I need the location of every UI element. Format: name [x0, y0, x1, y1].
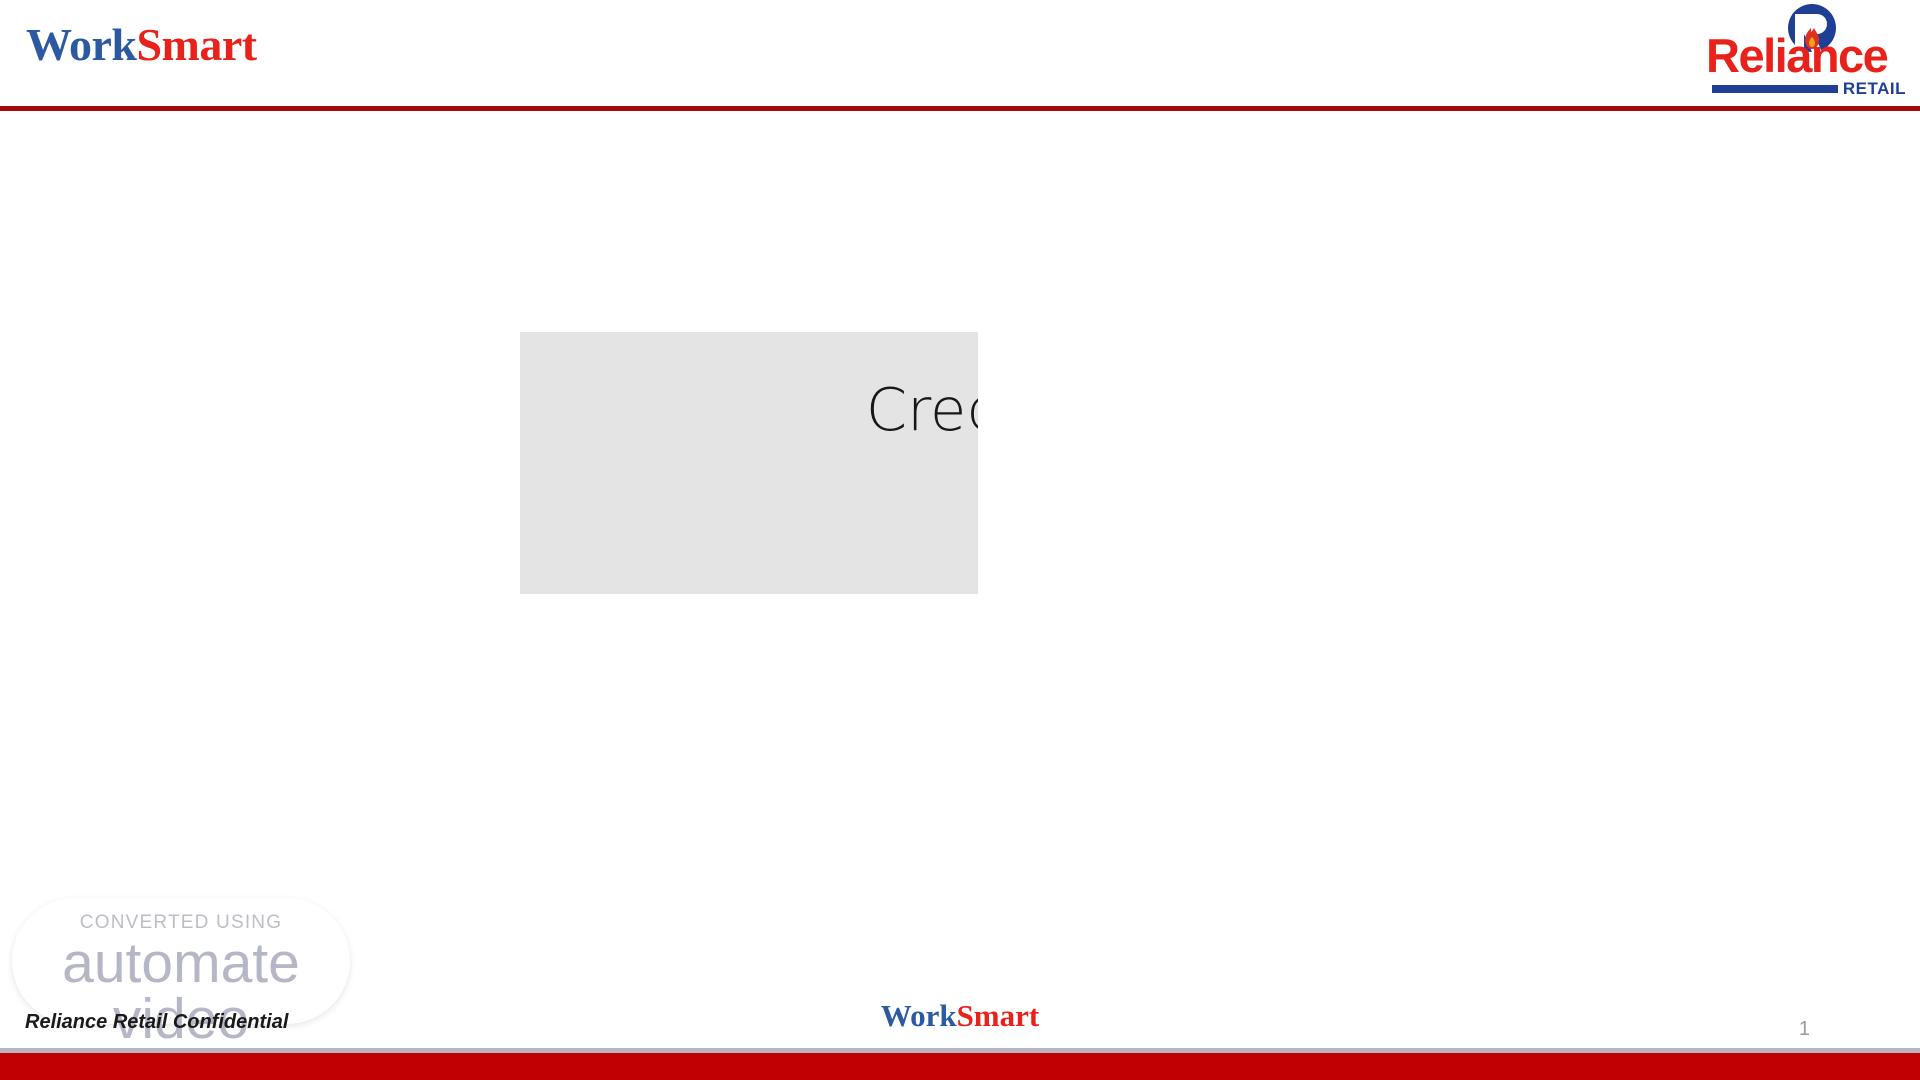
reliance-underline-group: RETAIL — [1712, 82, 1906, 98]
automate-video-watermark: CONVERTED USING automate video — [12, 898, 350, 1024]
slide-title-text: Credit Note – Grocery — [550, 372, 978, 523]
worksmart-logo-work-text: Work — [26, 19, 136, 70]
watermark-pill-background — [12, 898, 350, 1024]
worksmart-logo-header: WorkSmart — [26, 22, 257, 68]
footer-logo-smart-text: Smart — [957, 998, 1040, 1033]
slide-page-number: 1 — [1799, 1018, 1810, 1041]
reliance-underline-bar — [1712, 85, 1838, 93]
header-divider-rule — [0, 106, 1920, 111]
slide-title-line-2: Grocery — [550, 448, 978, 524]
footer-confidentiality-notice: Reliance Retail Confidential — [25, 1011, 288, 1034]
reliance-retail-subtitle: RETAIL — [1843, 80, 1906, 97]
slide-title-line-1: Credit Note – — [550, 372, 978, 448]
reliance-retail-logo: Reliance RETAIL — [1706, 4, 1906, 100]
slide-canvas: WorkSmart Reliance RETAIL Credit Note – … — [0, 0, 1920, 1080]
slide-header: WorkSmart Reliance RETAIL — [0, 0, 1920, 110]
slide-title-box: Credit Note – Grocery — [520, 332, 978, 594]
worksmart-logo-footer: WorkSmart — [881, 1000, 1039, 1031]
watermark-automate-text: automate — [12, 934, 350, 994]
footer-logo-work-text: Work — [881, 998, 957, 1033]
reliance-wordmark: Reliance — [1706, 32, 1906, 79]
footer-red-bar — [0, 1053, 1920, 1080]
worksmart-logo-smart-text: Smart — [136, 19, 256, 70]
watermark-eyebrow-text: CONVERTED USING — [12, 912, 350, 934]
